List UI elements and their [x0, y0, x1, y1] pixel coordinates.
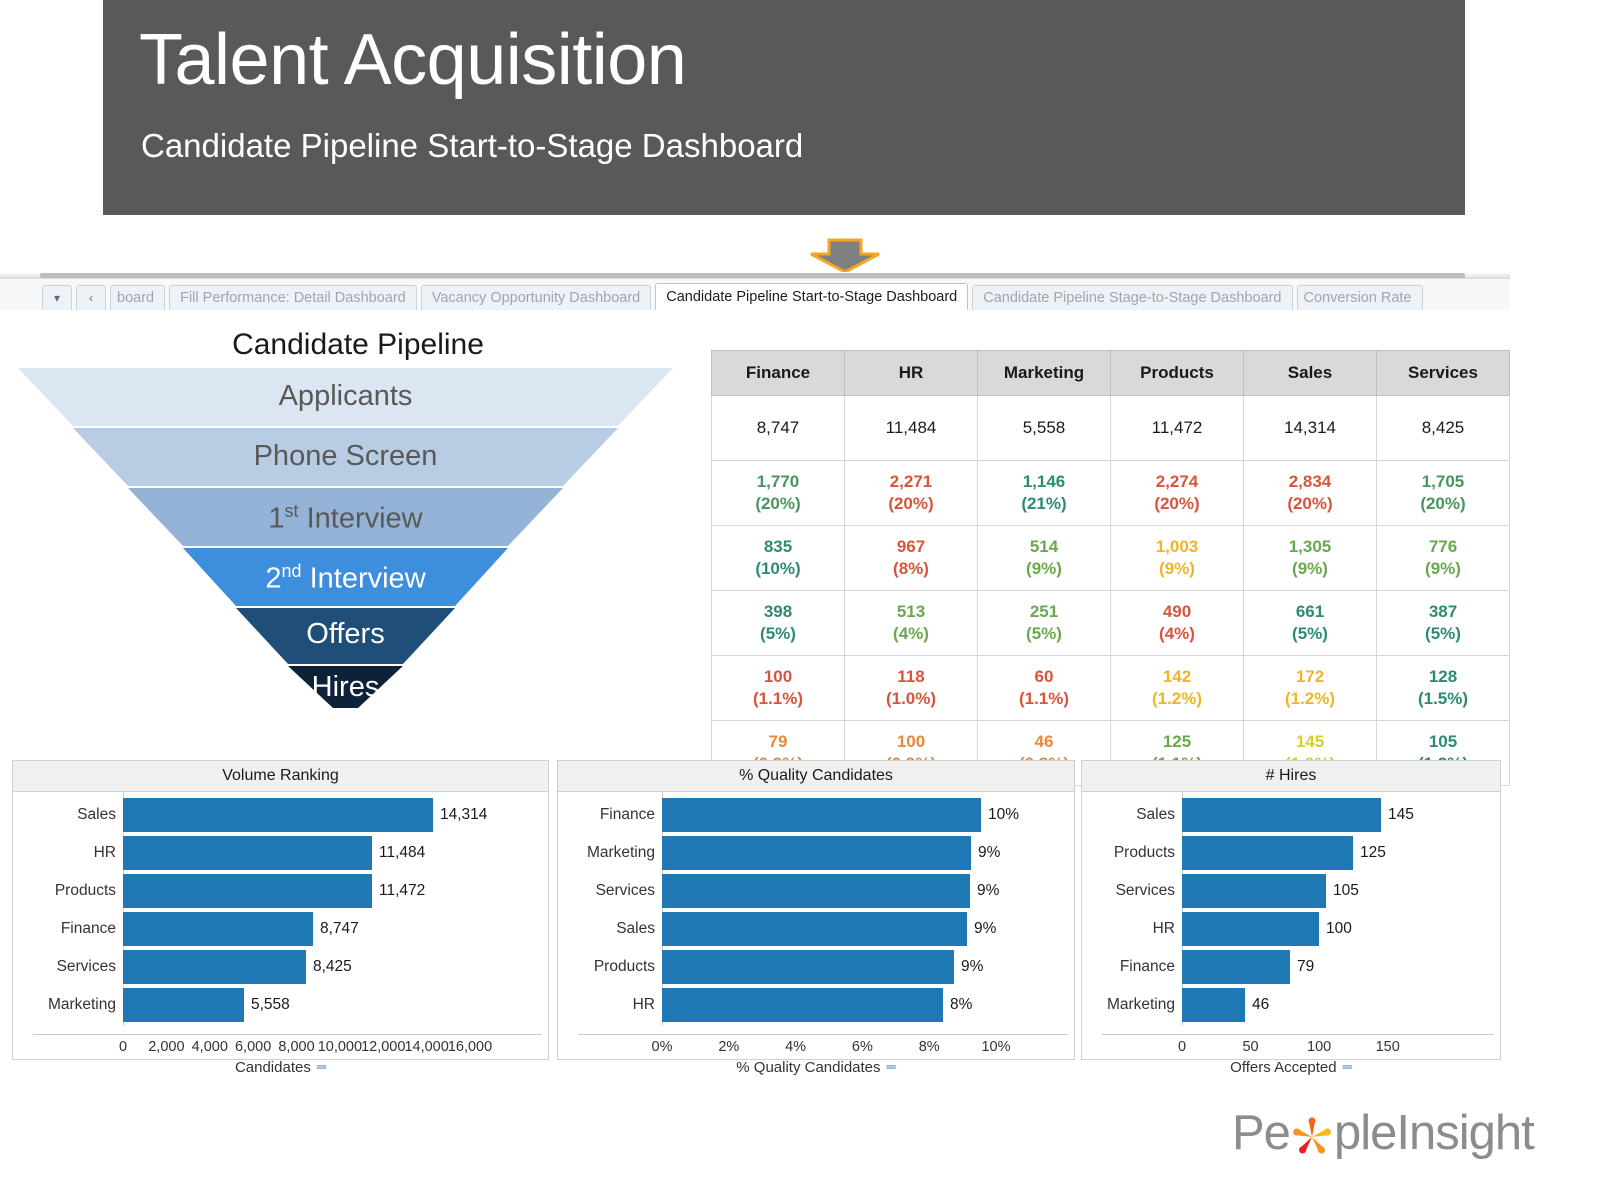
sort-icon[interactable]: ═ — [317, 1059, 326, 1074]
bar[interactable] — [123, 874, 372, 908]
table-cell[interactable]: 967(8%) — [845, 526, 978, 591]
cell-value: 145 — [1296, 732, 1324, 751]
bar-category-label: Marketing — [558, 844, 662, 862]
cell-value: 172 — [1296, 667, 1324, 686]
cell-value: 967 — [897, 537, 925, 556]
funnel-segment-offers — [236, 608, 455, 664]
bar-category-label: Services — [558, 882, 662, 900]
table-cell[interactable]: 1,705(20%) — [1377, 461, 1510, 526]
tab-candidate-pipeline-stage-to-stage[interactable]: Candidate Pipeline Stage-to-Stage Dashbo… — [972, 285, 1292, 310]
down-arrow-indicator — [805, 238, 885, 274]
table-cell[interactable]: 11,484 — [845, 396, 978, 461]
bar[interactable] — [662, 798, 981, 832]
table-row: 1,770(20%)2,271(20%)1,146(21%)2,274(20%)… — [712, 461, 1510, 526]
volume-ranking-plot: Sales14,314HR11,484Products11,472Finance… — [13, 792, 548, 1037]
cell-value: 128 — [1429, 667, 1457, 686]
cell-value: 1,305 — [1289, 537, 1332, 556]
column-header-hr[interactable]: HR — [845, 351, 978, 396]
x-axis-tick-label: 100 — [1307, 1039, 1331, 1055]
x-axis-tick-label: 0% — [652, 1039, 673, 1055]
x-axis-tick-label: 2% — [718, 1039, 739, 1055]
quality-candidates-x-axis-title: % Quality Candidates═ — [558, 1059, 1074, 1083]
bar-row[interactable]: Marketing46 — [1082, 988, 1500, 1022]
bar[interactable] — [1182, 798, 1381, 832]
cell-value: 1,705 — [1422, 472, 1465, 491]
cell-percent: (20%) — [846, 493, 976, 515]
bar-category-label: Finance — [13, 920, 123, 938]
bar-category-label: Products — [558, 958, 662, 976]
dashboard-application-window: ▾ ‹ board Fill Performance: Detail Dashb… — [0, 272, 1510, 1062]
volume-ranking-x-axis-ticks: 02,0004,0006,0008,00010,00012,00014,0001… — [13, 1037, 548, 1059]
scrollbar-thumb[interactable] — [40, 273, 1465, 278]
cell-percent: (9%) — [1378, 558, 1508, 580]
bar-value-label: 9% — [970, 882, 999, 900]
funnel-chart: Applicants Phone Screen 1st Interview 2n… — [18, 368, 673, 708]
bar-row[interactable]: Finance8,747 — [13, 912, 548, 946]
table-cell[interactable]: 11,472 — [1111, 396, 1244, 461]
bar-category-label: Products — [1082, 844, 1182, 862]
table-cell[interactable]: 514(9%) — [978, 526, 1111, 591]
cell-percent: (1.2%) — [1245, 688, 1375, 710]
table-cell[interactable]: 1,305(9%) — [1244, 526, 1377, 591]
cell-percent: (1.0%) — [846, 688, 976, 710]
chart-title-quality-candidates: % Quality Candidates — [558, 761, 1074, 792]
header-banner: Talent Acquisition Candidate Pipeline St… — [103, 0, 1465, 215]
x-axis-tick-label: 14,000 — [404, 1039, 448, 1055]
pinwheel-icon — [1290, 1115, 1334, 1159]
table-cell[interactable]: 128(1.5%) — [1377, 656, 1510, 721]
cell-percent: (10%) — [713, 558, 843, 580]
bar-row[interactable]: Sales145 — [1082, 798, 1500, 832]
bar-row[interactable]: Sales9% — [558, 912, 1074, 946]
bar[interactable] — [1182, 836, 1353, 870]
page-subtitle: Candidate Pipeline Start-to-Stage Dashbo… — [141, 122, 803, 170]
cell-value: 1,003 — [1156, 537, 1199, 556]
cell-percent: (5%) — [979, 623, 1109, 645]
funnel-segment-applicants — [18, 368, 673, 426]
axis-label-offers-accepted: Offers Accepted — [1230, 1059, 1336, 1076]
bar-value-label: 9% — [954, 958, 983, 976]
bar-row[interactable]: HR11,484 — [13, 836, 548, 870]
table-cell[interactable]: 661(5%) — [1244, 591, 1377, 656]
cell-percent: (5%) — [1378, 623, 1508, 645]
table-row: 835(10%)967(8%)514(9%)1,003(9%)1,305(9%)… — [712, 526, 1510, 591]
bar-category-label: Products — [13, 882, 123, 900]
chart-title-hires: # Hires — [1082, 761, 1500, 792]
sort-icon[interactable]: ═ — [887, 1059, 896, 1074]
tab-dropdown-icon[interactable]: ▾ — [42, 285, 72, 310]
x-axis-line — [1102, 1034, 1494, 1035]
bar-row[interactable]: Products125 — [1082, 836, 1500, 870]
bar-value-label: 9% — [967, 920, 996, 938]
candidate-pipeline-funnel-panel: Candidate Pipeline Applicants Phone Scre… — [18, 310, 698, 710]
bar-category-label: HR — [558, 996, 662, 1014]
table-cell[interactable]: 251(5%) — [978, 591, 1111, 656]
table-cell[interactable]: 60(1.1%) — [978, 656, 1111, 721]
cell-percent: (9%) — [1112, 558, 1242, 580]
x-axis-line — [33, 1034, 542, 1035]
quality-candidates-plot: Finance10%Marketing9%Services9%Sales9%Pr… — [558, 792, 1074, 1037]
cell-percent: (21%) — [979, 493, 1109, 515]
cell-value: 118 — [897, 667, 924, 686]
bar[interactable] — [123, 798, 433, 832]
bar-category-label: HR — [1082, 920, 1182, 938]
axis-label-quality: % Quality Candidates — [736, 1059, 880, 1076]
x-axis-tick-label: 2,000 — [148, 1039, 184, 1055]
peopleinsight-logo: Pe — [1232, 1105, 1534, 1161]
x-axis-tick-label: 0 — [1178, 1039, 1186, 1055]
bar-category-label: Services — [13, 958, 123, 976]
bar-row[interactable]: Finance79 — [1082, 950, 1500, 984]
bar[interactable] — [123, 988, 244, 1022]
axis-label-candidates: Candidates — [235, 1059, 311, 1076]
bar-row[interactable]: Finance10% — [558, 798, 1074, 832]
table-cell[interactable]: 100(1.1%) — [712, 656, 845, 721]
x-axis-tick-label: 4,000 — [192, 1039, 228, 1055]
sort-icon[interactable]: ═ — [1343, 1059, 1352, 1074]
bar-row[interactable]: Marketing9% — [558, 836, 1074, 870]
cell-value: 125 — [1163, 732, 1191, 751]
table-cell[interactable]: 776(9%) — [1377, 526, 1510, 591]
bar-row[interactable]: HR100 — [1082, 912, 1500, 946]
bar[interactable] — [662, 836, 971, 870]
bar-value-label: 79 — [1290, 958, 1314, 976]
bar-category-label: Sales — [13, 806, 123, 824]
cell-percent: (1.1%) — [713, 688, 843, 710]
bar-value-label: 5,558 — [244, 996, 290, 1014]
bar-value-label: 105 — [1326, 882, 1359, 900]
cell-value: 2,271 — [890, 472, 933, 491]
x-axis-tick-label: 10,000 — [318, 1039, 362, 1055]
table-cell[interactable]: 1,003(9%) — [1111, 526, 1244, 591]
column-header-sales[interactable]: Sales — [1244, 351, 1377, 396]
x-axis-tick-label: 16,000 — [448, 1039, 492, 1055]
cell-value: 661 — [1296, 602, 1324, 621]
cell-value: 835 — [764, 537, 792, 556]
bar-category-label: Sales — [1082, 806, 1182, 824]
table-cell[interactable]: 14,314 — [1244, 396, 1377, 461]
cell-percent: (20%) — [1245, 493, 1375, 515]
table-cell[interactable]: 1,146(21%) — [978, 461, 1111, 526]
funnel-segment-2nd-interview — [183, 548, 508, 606]
x-axis-line — [578, 1034, 1068, 1035]
bar[interactable] — [123, 836, 372, 870]
bar-value-label: 46 — [1245, 996, 1269, 1014]
quality-candidates-chart-panel: % Quality Candidates Finance10%Marketing… — [557, 760, 1075, 1060]
table-body: 8,74711,4845,55811,47214,3148,4251,770(2… — [712, 396, 1510, 786]
cell-value: 46 — [1035, 732, 1054, 751]
table-cell[interactable]: 8,425 — [1377, 396, 1510, 461]
table-cell[interactable]: 387(5%) — [1377, 591, 1510, 656]
column-header-finance[interactable]: Finance — [712, 351, 845, 396]
cell-value: 398 — [764, 602, 792, 621]
cell-value: 100 — [897, 732, 925, 751]
hires-chart-panel: # Hires Sales145Products125Services105HR… — [1081, 760, 1501, 1060]
table-cell[interactable]: 513(4%) — [845, 591, 978, 656]
x-axis-tick-label: 12,000 — [361, 1039, 405, 1055]
column-header-marketing[interactable]: Marketing — [978, 351, 1111, 396]
column-header-products[interactable]: Products — [1111, 351, 1244, 396]
bar-row[interactable]: Services9% — [558, 874, 1074, 908]
table-cell[interactable]: 142(1.2%) — [1111, 656, 1244, 721]
bar-value-label: 125 — [1353, 844, 1386, 862]
bar[interactable] — [123, 950, 306, 984]
pipeline-metrics-table: Finance HR Marketing Products Sales Serv… — [711, 350, 1510, 786]
tab-candidate-pipeline-start-to-stage[interactable]: Candidate Pipeline Start-to-Stage Dashbo… — [655, 283, 968, 310]
hires-plot: Sales145Products125Services105HR100Finan… — [1082, 792, 1500, 1037]
x-axis-tick-label: 4% — [785, 1039, 806, 1055]
table-row: 100(1.1%)118(1.0%)60(1.1%)142(1.2%)172(1… — [712, 656, 1510, 721]
table-cell[interactable]: 8,747 — [712, 396, 845, 461]
cell-value: 79 — [769, 732, 788, 751]
bar-row[interactable]: Products9% — [558, 950, 1074, 984]
x-axis-tick-label: 6% — [852, 1039, 873, 1055]
page-title: Talent Acquisition — [139, 18, 686, 102]
funnel-svg — [18, 368, 673, 708]
table-cell[interactable]: 118(1.0%) — [845, 656, 978, 721]
cell-percent: (4%) — [846, 623, 976, 645]
x-axis-tick-label: 6,000 — [235, 1039, 271, 1055]
cell-value: 100 — [764, 667, 792, 686]
table-cell[interactable]: 490(4%) — [1111, 591, 1244, 656]
cell-value: 1,770 — [757, 472, 800, 491]
cell-percent: (20%) — [713, 493, 843, 515]
bar[interactable] — [1182, 912, 1319, 946]
cell-value: 490 — [1163, 602, 1191, 621]
bar-row[interactable]: Sales14,314 — [13, 798, 548, 832]
bar-value-label: 145 — [1381, 806, 1414, 824]
cell-percent: (20%) — [1378, 493, 1508, 515]
bar[interactable] — [662, 874, 970, 908]
bar-category-label: Finance — [558, 806, 662, 824]
cell-value: 60 — [1035, 667, 1054, 686]
dashboard-content: Candidate Pipeline Applicants Phone Scre… — [0, 310, 1510, 1062]
bar-row[interactable]: Marketing5,558 — [13, 988, 548, 1022]
table-row: 398(5%)513(4%)251(5%)490(4%)661(5%)387(5… — [712, 591, 1510, 656]
cell-value: 105 — [1429, 732, 1457, 751]
tab-vacancy-opportunity-dashboard[interactable]: Vacancy Opportunity Dashboard — [421, 285, 652, 310]
bar[interactable] — [123, 912, 313, 946]
bar-value-label: 14,314 — [433, 806, 487, 824]
funnel-segment-1st-interview — [128, 488, 563, 546]
cell-value: 2,834 — [1289, 472, 1332, 491]
table-cell[interactable]: 172(1.2%) — [1244, 656, 1377, 721]
bar[interactable] — [662, 912, 967, 946]
bar-category-label: Sales — [558, 920, 662, 938]
bar-row[interactable]: Products11,472 — [13, 874, 548, 908]
bar-row[interactable]: Services105 — [1082, 874, 1500, 908]
cell-value: 251 — [1030, 602, 1058, 621]
bar-value-label: 100 — [1319, 920, 1352, 938]
cell-percent: (4%) — [1112, 623, 1242, 645]
volume-ranking-x-axis-title: Candidates═ — [13, 1059, 548, 1083]
table-header-row: Finance HR Marketing Products Sales Serv… — [712, 351, 1510, 396]
bar-value-label: 10% — [981, 806, 1019, 824]
cell-percent: (5%) — [713, 623, 843, 645]
bar-row[interactable]: Services8,425 — [13, 950, 548, 984]
cell-percent: (5%) — [1245, 623, 1375, 645]
cell-percent: (20%) — [1112, 493, 1242, 515]
table-row: 8,74711,4845,55811,47214,3148,425 — [712, 396, 1510, 461]
x-axis-tick-label: 10% — [981, 1039, 1010, 1055]
bar-category-label: Finance — [1082, 958, 1182, 976]
funnel-title: Candidate Pipeline — [18, 328, 698, 362]
hires-x-axis-title: Offers Accepted═ — [1082, 1059, 1500, 1083]
bar-row[interactable]: HR8% — [558, 988, 1074, 1022]
table-cell[interactable]: 2,271(20%) — [845, 461, 978, 526]
tab-board-partial[interactable]: board — [110, 285, 165, 310]
bar-value-label: 8% — [943, 996, 972, 1014]
bar[interactable] — [1182, 988, 1245, 1022]
logo-text-before: Pe — [1232, 1105, 1290, 1161]
cell-percent: (9%) — [979, 558, 1109, 580]
table-cell[interactable]: 398(5%) — [712, 591, 845, 656]
cell-value: 776 — [1429, 537, 1457, 556]
cell-percent: (1.5%) — [1378, 688, 1508, 710]
horizontal-scrollbar[interactable] — [0, 272, 1510, 279]
cell-value: 1,146 — [1023, 472, 1066, 491]
cell-value: 514 — [1030, 537, 1058, 556]
bar-value-label: 11,484 — [372, 844, 425, 862]
cell-value: 513 — [897, 602, 925, 621]
x-axis-tick-label: 8% — [919, 1039, 940, 1055]
chart-title-volume-ranking: Volume Ranking — [13, 761, 548, 792]
bar-category-label: HR — [13, 844, 123, 862]
table-cell[interactable]: 5,558 — [978, 396, 1111, 461]
tab-conversion-rate[interactable]: Conversion Rate — [1297, 285, 1423, 310]
table-cell[interactable]: 835(10%) — [712, 526, 845, 591]
column-header-services[interactable]: Services — [1377, 351, 1510, 396]
bar-value-label: 11,472 — [372, 882, 425, 900]
cell-value: 142 — [1163, 667, 1191, 686]
bar-value-label: 8,747 — [313, 920, 359, 938]
table-cell[interactable]: 1,770(20%) — [712, 461, 845, 526]
logo-text-after: pleInsight — [1334, 1105, 1534, 1161]
x-axis-tick-label: 150 — [1376, 1039, 1400, 1055]
cell-value: 387 — [1429, 602, 1457, 621]
cell-percent: (1.1%) — [979, 688, 1109, 710]
tab-scroll-back-icon[interactable]: ‹ — [76, 285, 106, 310]
funnel-segment-hires — [288, 666, 403, 708]
hires-x-axis-ticks: 050100150 — [1082, 1037, 1500, 1059]
cell-percent: (1.2%) — [1112, 688, 1242, 710]
bar-category-label: Marketing — [1082, 996, 1182, 1014]
cell-percent: (8%) — [846, 558, 976, 580]
funnel-segment-phone-screen — [73, 428, 618, 486]
tab-fill-performance-detail-dashboard[interactable]: Fill Performance: Detail Dashboard — [169, 285, 417, 310]
table-cell[interactable]: 2,834(20%) — [1244, 461, 1377, 526]
bar-category-label: Marketing — [13, 996, 123, 1014]
x-axis-tick-label: 8,000 — [278, 1039, 314, 1055]
table-cell[interactable]: 2,274(20%) — [1111, 461, 1244, 526]
cell-value: 2,274 — [1156, 472, 1199, 491]
bar-value-label: 8,425 — [306, 958, 352, 976]
bar[interactable] — [1182, 950, 1290, 984]
bar[interactable] — [662, 988, 943, 1022]
bar-category-label: Services — [1082, 882, 1182, 900]
bar-value-label: 9% — [971, 844, 1000, 862]
bar[interactable] — [1182, 874, 1326, 908]
volume-ranking-chart-panel: Volume Ranking Sales14,314HR11,484Produc… — [12, 760, 549, 1060]
cell-percent: (9%) — [1245, 558, 1375, 580]
quality-candidates-x-axis-ticks: 0%2%4%6%8%10% — [558, 1037, 1074, 1059]
x-axis-tick-label: 0 — [119, 1039, 127, 1055]
dashboard-tab-bar: ▾ ‹ board Fill Performance: Detail Dashb… — [0, 279, 1510, 311]
x-axis-tick-label: 50 — [1242, 1039, 1258, 1055]
bar[interactable] — [662, 950, 954, 984]
